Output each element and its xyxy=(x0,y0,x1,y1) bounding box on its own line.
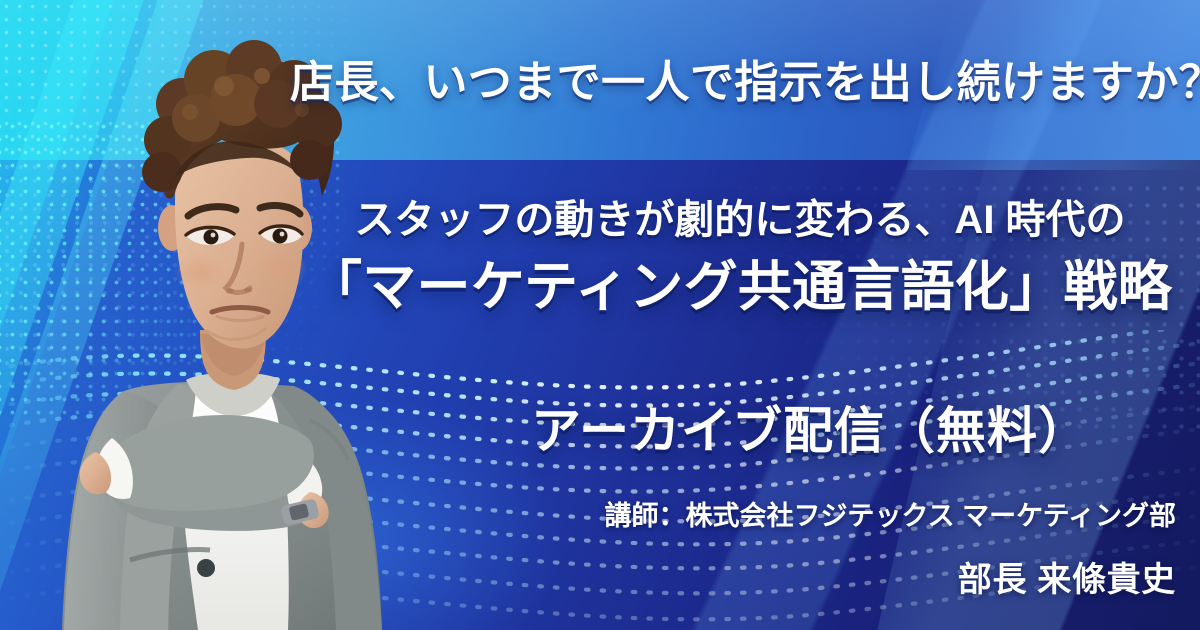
subtitle-line: スタッフの動きが劇的に変わる、AI 時代の xyxy=(300,198,1180,242)
page-title: 店長、いつまで一人で指示を出し続けますか？ xyxy=(290,58,1180,107)
speaker-affiliation: 講師：株式会社フジテックス マーケティング部 xyxy=(604,494,1176,533)
main-title-line: 「マーケティング共通言語化」戦略 xyxy=(290,258,1190,317)
archive-delivery-label: アーカイブ配信（無料） xyxy=(430,404,1190,459)
webinar-banner: 店長、いつまで一人で指示を出し続けますか？ スタッフの動きが劇的に変わる、AI … xyxy=(0,0,1200,630)
speaker-name: 部長 来條貴史 xyxy=(958,552,1176,601)
